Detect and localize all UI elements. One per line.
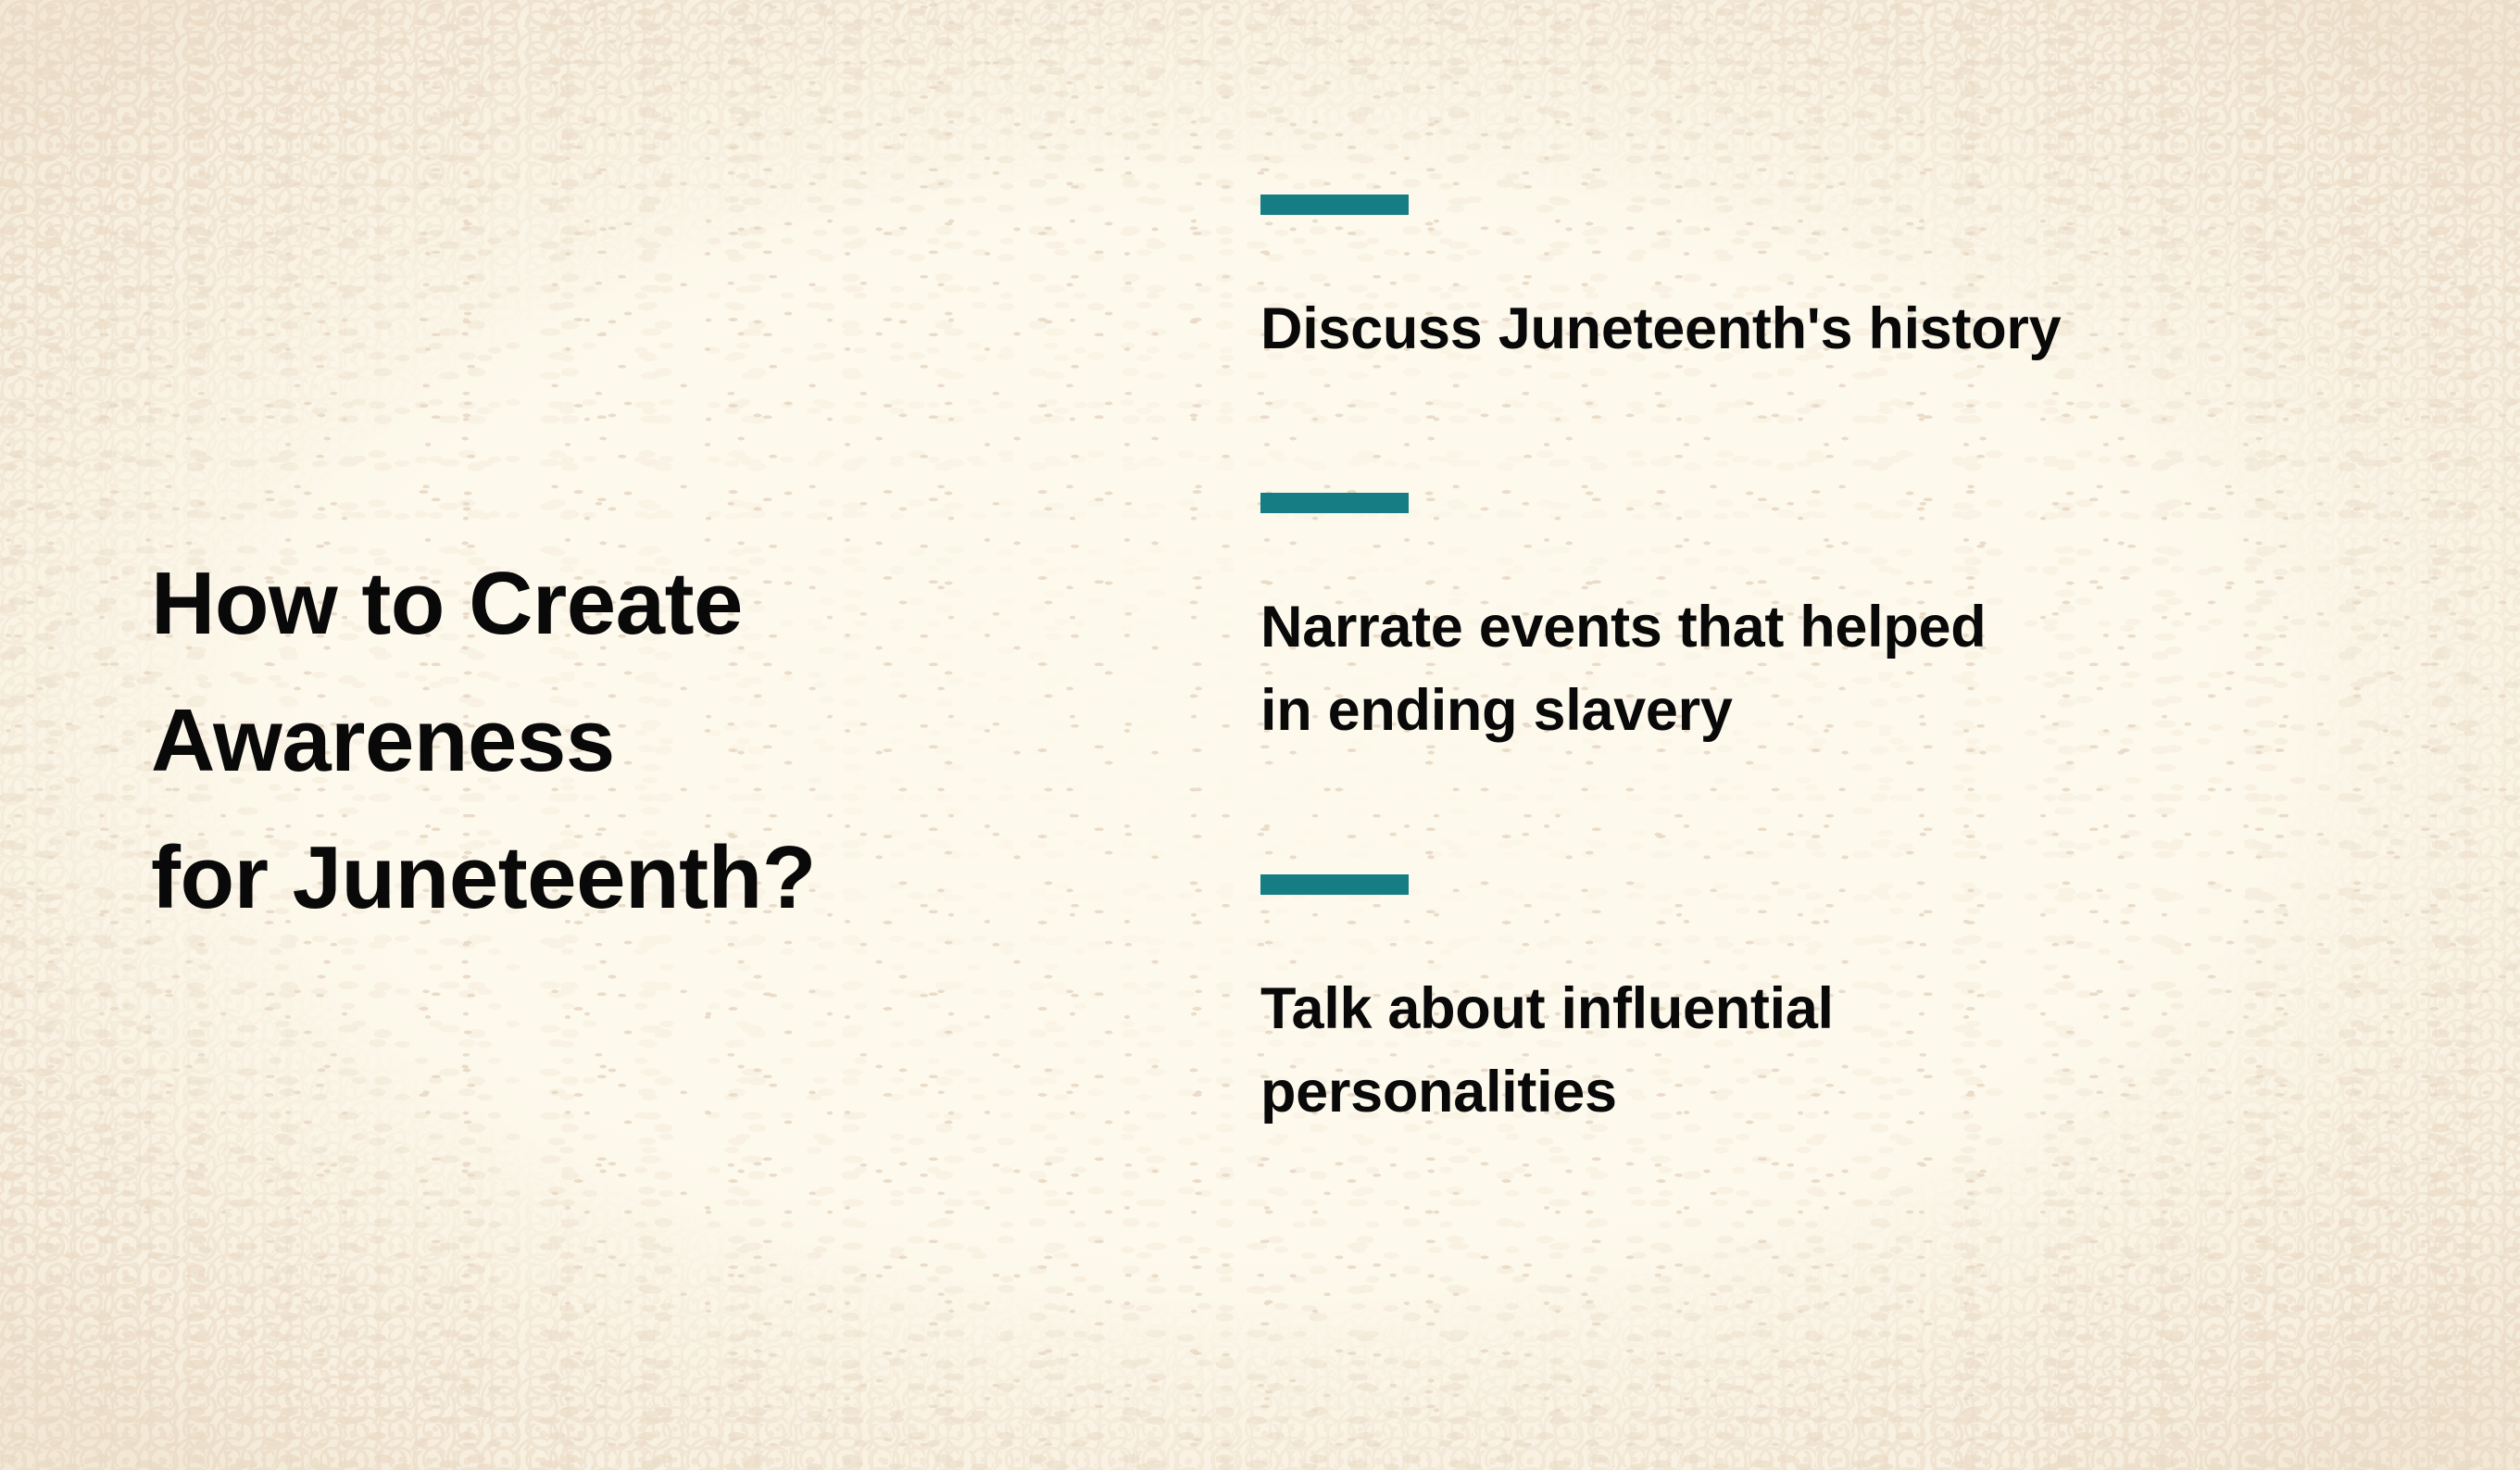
- points-column: Discuss Juneteenth's history Narrate eve…: [1260, 195, 2279, 1134]
- slide-canvas: How to Create Awareness for Juneteenth? …: [0, 0, 2520, 1470]
- list-item-text: Discuss Juneteenth's history: [1260, 287, 2279, 371]
- list-item: Narrate events that helped in ending sla…: [1260, 493, 2279, 752]
- slide-title: How to Create Awareness for Juneteenth?: [151, 535, 1123, 947]
- dash-accent-icon: [1260, 874, 1409, 895]
- title-column: How to Create Awareness for Juneteenth?: [151, 535, 1123, 947]
- list-item-text: Talk about influential personalities: [1260, 967, 2279, 1134]
- slide-content: How to Create Awareness for Juneteenth? …: [0, 0, 2520, 1470]
- dash-accent-icon: [1260, 195, 1409, 215]
- list-item-text: Narrate events that helped in ending sla…: [1260, 585, 2279, 752]
- list-item: Discuss Juneteenth's history: [1260, 195, 2279, 371]
- list-item: Talk about influential personalities: [1260, 874, 2279, 1134]
- dash-accent-icon: [1260, 493, 1409, 513]
